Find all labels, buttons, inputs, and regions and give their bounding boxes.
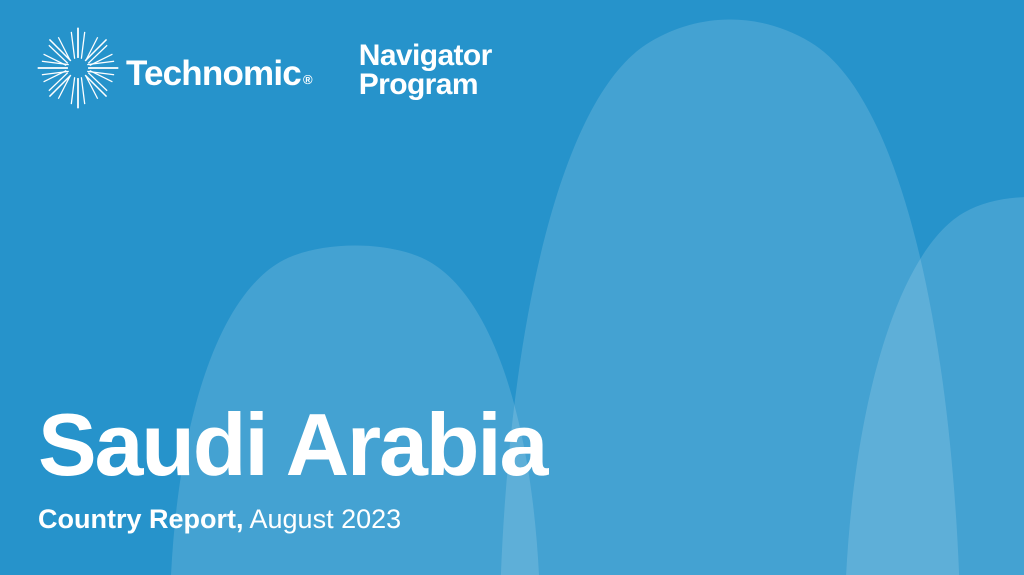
logo-lockup: Technomic® Navigator Program	[36, 28, 492, 108]
technomic-brand-text: Technomic	[126, 56, 301, 91]
navigator-line: Navigator	[359, 41, 492, 70]
title-slide: Technomic® Navigator Program Saudi Arabi…	[0, 0, 1024, 575]
subtitle-label: Country Report,	[38, 504, 244, 534]
technomic-wordmark: Technomic®	[126, 56, 312, 91]
page-title: Saudi Arabia	[38, 401, 798, 489]
subtitle-date: August 2023	[250, 504, 402, 534]
registered-trademark-icon: ®	[303, 73, 312, 86]
starburst-icon	[36, 26, 120, 110]
program-line: Program	[359, 70, 492, 99]
subtitle: Country Report, August 2023	[38, 505, 798, 535]
title-block: Saudi Arabia Country Report, August 2023	[38, 401, 798, 535]
navigator-program-wordmark: Navigator Program	[359, 41, 492, 100]
